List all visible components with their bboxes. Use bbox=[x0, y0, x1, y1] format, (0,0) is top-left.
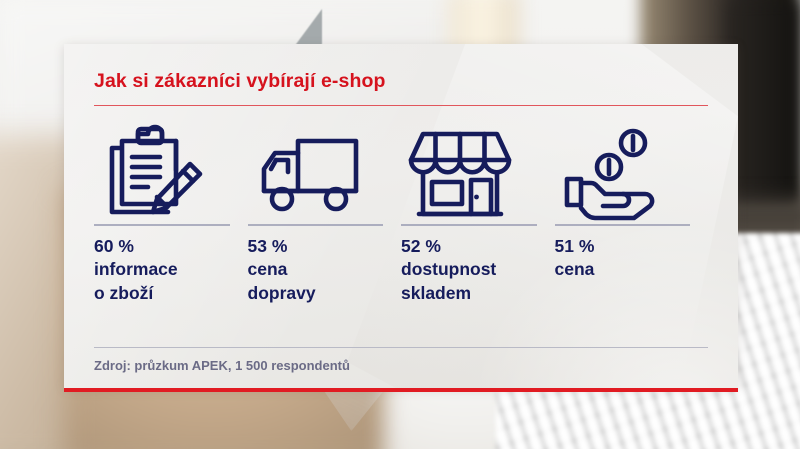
infographic-card: Jak si zákazníci vybírají e-shop bbox=[64, 44, 738, 388]
delivery-truck-icon bbox=[248, 120, 384, 224]
stat-label-1: informace o zboží bbox=[94, 259, 178, 302]
stat-value-1: 60 % informace o zboží bbox=[94, 235, 230, 305]
stat-value-3: 52 % dostupnost skladem bbox=[401, 235, 537, 305]
clipboard-pencil-icon bbox=[94, 120, 230, 224]
stat-column-doprava: 53 % cena dopravy bbox=[248, 120, 402, 305]
stat-column-dostupnost: 52 % dostupnost skladem bbox=[401, 120, 555, 305]
card-bottom-accent-bar bbox=[64, 388, 738, 392]
stat-value-2: 53 % cena dopravy bbox=[248, 235, 384, 305]
stat-label-2: cena dopravy bbox=[248, 259, 316, 302]
stat-percent-3: 52 % bbox=[401, 236, 441, 256]
column-divider bbox=[248, 224, 384, 226]
stat-label-4: cena bbox=[555, 259, 595, 279]
source-note: Zdroj: průzkum APEK, 1 500 respondentů bbox=[94, 358, 350, 373]
stat-percent-2: 53 % bbox=[248, 236, 288, 256]
storefront-icon bbox=[401, 120, 537, 224]
background-monitor-edge bbox=[728, 0, 800, 207]
column-divider bbox=[94, 224, 230, 226]
source-divider bbox=[94, 347, 708, 348]
stat-label-3: dostupnost skladem bbox=[401, 259, 496, 302]
column-divider bbox=[555, 224, 691, 226]
column-divider bbox=[401, 224, 537, 226]
stat-percent-4: 51 % bbox=[555, 236, 595, 256]
stat-value-4: 51 % cena bbox=[555, 235, 691, 282]
stats-row: 60 % informace o zboží bbox=[94, 120, 708, 305]
stat-column-cena: 51 % cena bbox=[555, 120, 709, 305]
page-title: Jak si zákazníci vybírají e-shop bbox=[94, 70, 708, 93]
hand-coins-icon bbox=[555, 120, 691, 224]
title-divider bbox=[94, 105, 708, 106]
stat-column-informace: 60 % informace o zboží bbox=[94, 120, 248, 305]
stat-percent-1: 60 % bbox=[94, 236, 134, 256]
